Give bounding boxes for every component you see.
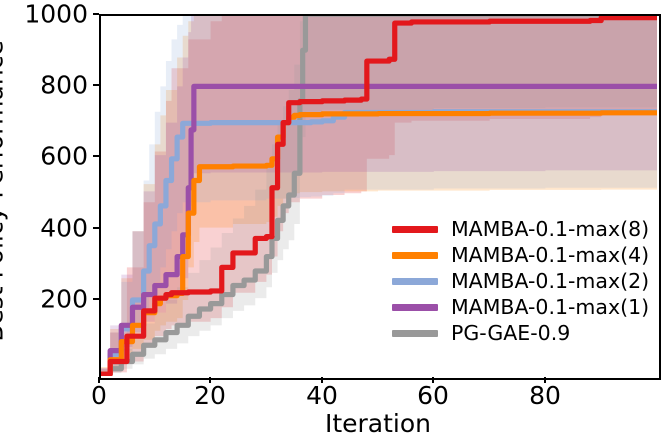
legend-label-mamba-max8: MAMBA-0.1-max(8) bbox=[451, 219, 649, 240]
legend-item-mamba-max4[interactable]: MAMBA-0.1-max(4) bbox=[392, 242, 652, 268]
legend-swatch-pg-gae bbox=[392, 330, 438, 337]
legend-item-pg-gae[interactable]: PG-GAE-0.9 bbox=[392, 320, 652, 346]
legend-item-mamba-max2[interactable]: MAMBA-0.1-max(2) bbox=[392, 268, 652, 294]
legend-swatch-mamba-max1 bbox=[392, 304, 438, 311]
y-tick-label-400: 400 bbox=[0, 214, 88, 243]
x-tick-label-0: 0 bbox=[91, 381, 107, 410]
x-axis-label: Iteration bbox=[325, 409, 431, 438]
x-tick-mark-0 bbox=[98, 377, 100, 383]
legend-item-mamba-max8[interactable]: MAMBA-0.1-max(8) bbox=[392, 216, 652, 242]
x-tick-mark-80 bbox=[544, 377, 546, 383]
x-tick-label-20: 20 bbox=[194, 381, 226, 410]
legend-swatch-mamba-max8 bbox=[392, 226, 438, 233]
legend-label-mamba-max4: MAMBA-0.1-max(4) bbox=[451, 245, 649, 266]
y-tick-label-200: 200 bbox=[0, 285, 88, 314]
x-tick-mark-60 bbox=[432, 377, 434, 383]
legend-swatch-mamba-max2 bbox=[392, 278, 438, 285]
y-tick-label-600: 600 bbox=[0, 142, 88, 171]
legend-item-mamba-max1[interactable]: MAMBA-0.1-max(1) bbox=[392, 294, 652, 320]
x-tick-label-80: 80 bbox=[529, 381, 561, 410]
figure: Best Policy Performance 1000 800 600 400… bbox=[0, 0, 664, 443]
legend-swatch-mamba-max4 bbox=[392, 252, 438, 259]
legend-label-mamba-max2: MAMBA-0.1-max(2) bbox=[451, 271, 649, 292]
legend: MAMBA-0.1-max(8) MAMBA-0.1-max(4) MAMBA-… bbox=[392, 216, 652, 346]
legend-label-mamba-max1: MAMBA-0.1-max(1) bbox=[451, 297, 649, 318]
y-tick-label-800: 800 bbox=[0, 71, 88, 100]
x-tick-label-40: 40 bbox=[306, 381, 338, 410]
x-tick-label-60: 60 bbox=[417, 381, 449, 410]
x-tick-mark-40 bbox=[321, 377, 323, 383]
x-tick-mark-20 bbox=[209, 377, 211, 383]
legend-label-pg-gae: PG-GAE-0.9 bbox=[451, 323, 570, 344]
y-tick-label-1000: 1000 bbox=[0, 0, 88, 29]
